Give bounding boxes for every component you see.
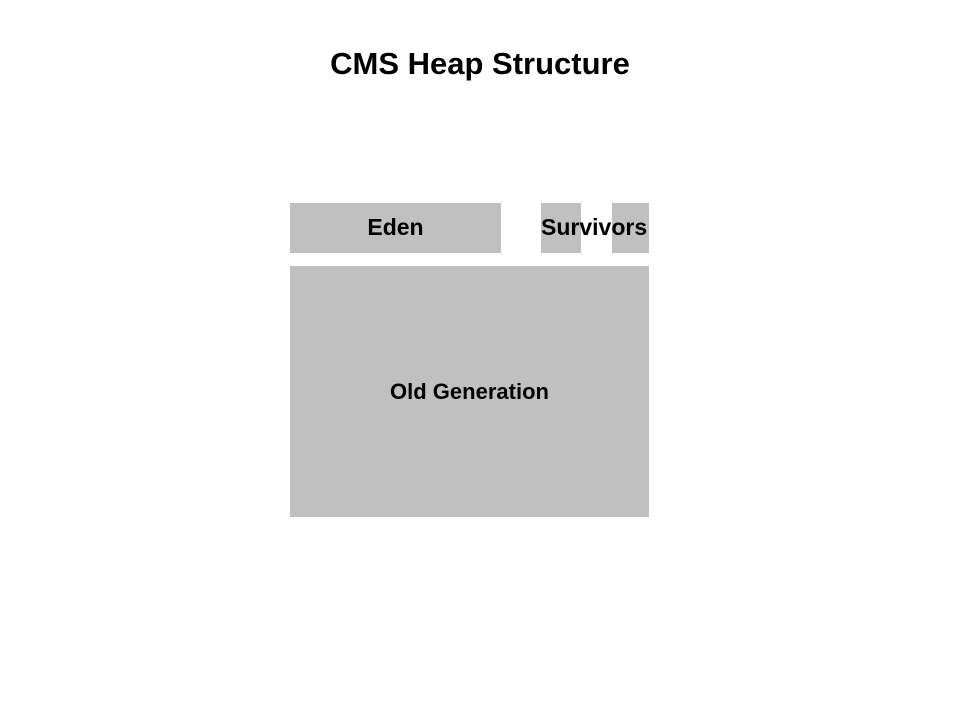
survivors-label: Survivors	[541, 216, 647, 239]
page-title: CMS Heap Structure	[0, 48, 960, 79]
old-generation-label: Old Generation	[290, 381, 649, 403]
eden-label: Eden	[290, 216, 501, 239]
diagram-canvas: CMS Heap Structure Eden Survivors Old Ge…	[0, 0, 960, 720]
